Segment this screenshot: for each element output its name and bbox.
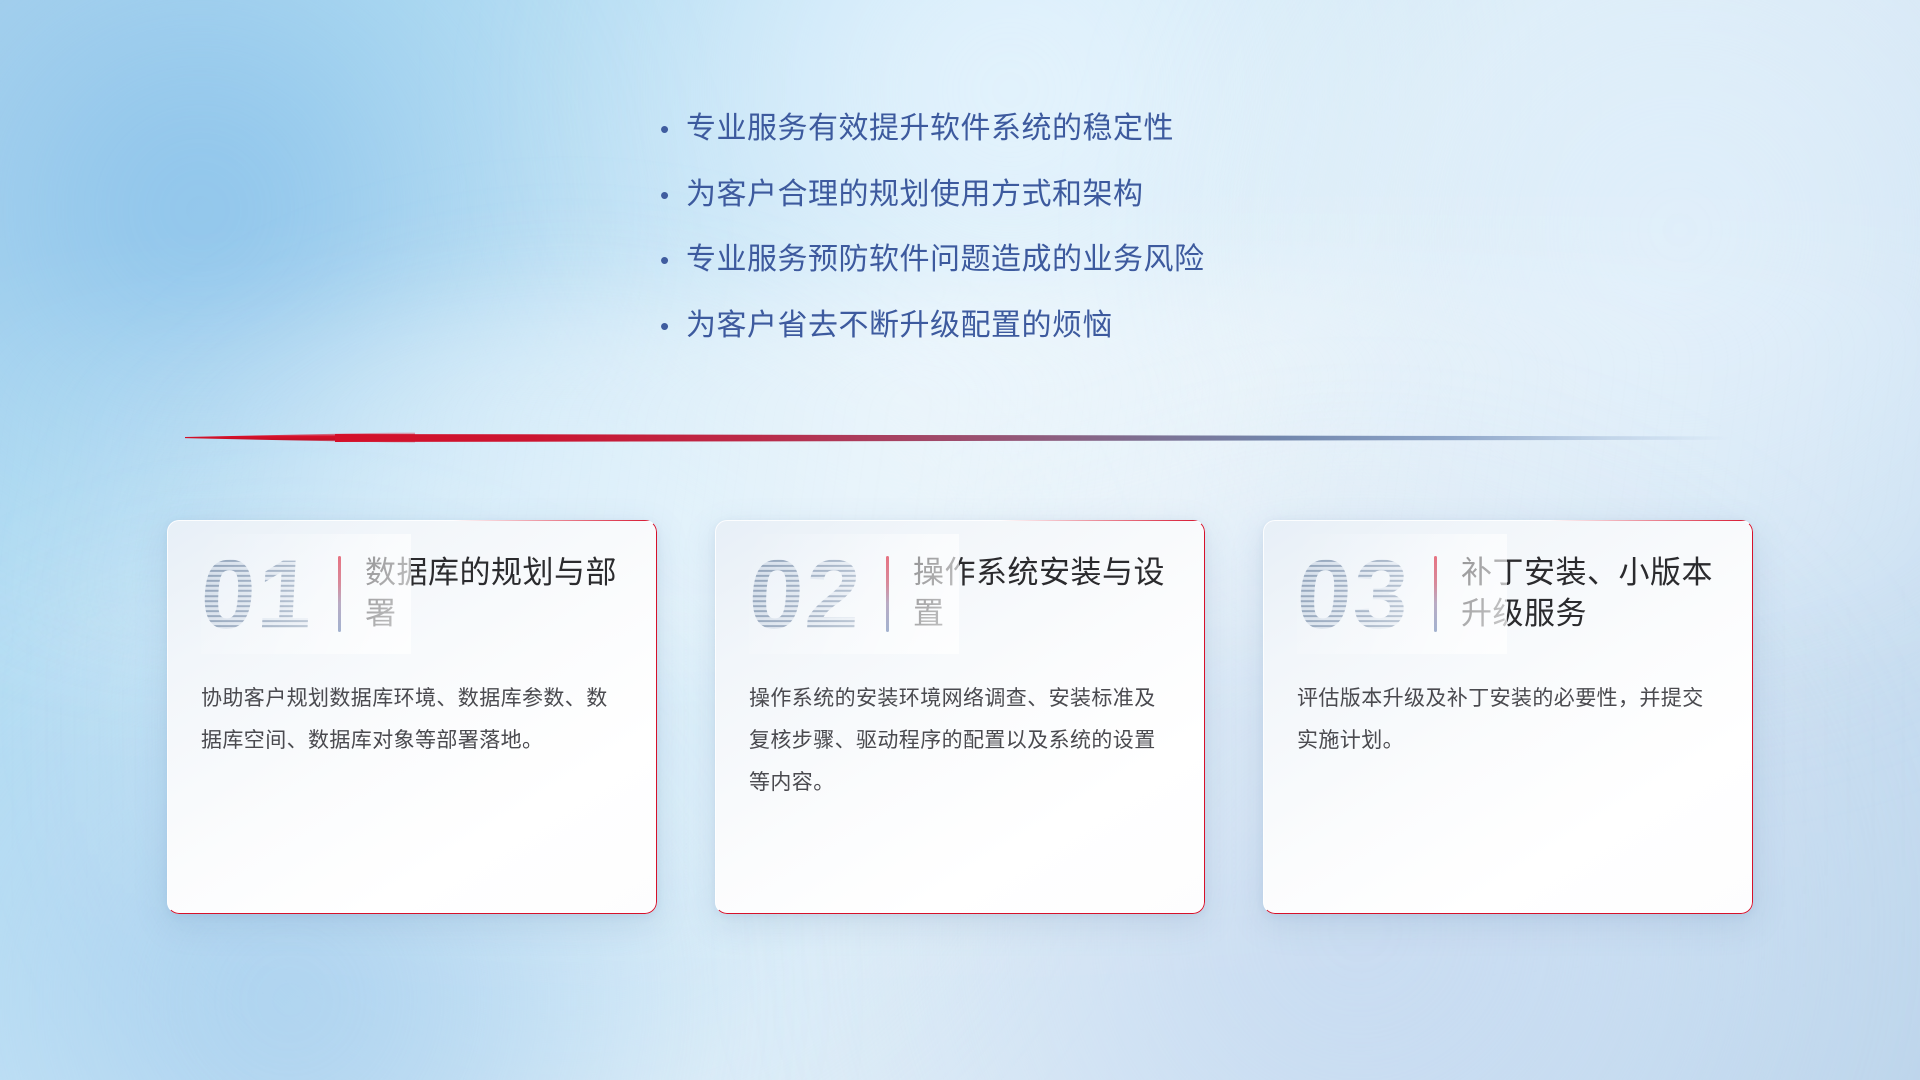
- bullet-dot-icon: •: [660, 247, 686, 273]
- card-number: 01: [198, 545, 322, 643]
- list-item: • 为客户合理的规划使用方式和架构: [660, 176, 1440, 214]
- card-title: 补丁安装、小版本升级服务: [1461, 553, 1727, 635]
- bullet-dot-icon: •: [660, 182, 686, 208]
- bullet-dot-icon: •: [660, 313, 686, 339]
- bullet-dot-icon: •: [660, 116, 686, 142]
- list-item: • 专业服务有效提升软件系统的稳定性: [660, 110, 1440, 148]
- card-body-text: 操作系统的安装环境网络调查、安装标准及复核步骤、驱动程序的配置以及系统的设置等内…: [715, 668, 1205, 804]
- section-divider: [185, 428, 1730, 446]
- card-title: 操作系统安装与设置: [913, 553, 1179, 635]
- card-title-divider: [1434, 556, 1437, 632]
- card-title: 数据库的规划与部署: [365, 553, 631, 635]
- service-card-01[interactable]: 01 数据库的规划与部署 协助客户规划数据库环境、数据库参数、数据库空间、数据库…: [167, 520, 657, 914]
- card-header: 02 操作系统安装与设置: [715, 520, 1205, 668]
- bullet-text: 专业服务有效提升软件系统的稳定性: [686, 110, 1174, 148]
- bullet-text: 专业服务预防软件问题造成的业务风险: [686, 241, 1205, 279]
- card-body-text: 协助客户规划数据库环境、数据库参数、数据库空间、数据库对象等部署落地。: [167, 668, 657, 762]
- service-card-02[interactable]: 02 操作系统安装与设置 操作系统的安装环境网络调查、安装标准及复核步骤、驱动程…: [715, 520, 1205, 914]
- card-body-text: 评估版本升级及补丁安装的必要性，并提交实施计划。: [1263, 668, 1753, 762]
- bullet-text: 为客户合理的规划使用方式和架构: [686, 176, 1144, 214]
- card-number: 03: [1294, 545, 1418, 643]
- card-title-divider: [886, 556, 889, 632]
- list-item: • 为客户省去不断升级配置的烦恼: [660, 307, 1440, 345]
- service-card-03[interactable]: 03 补丁安装、小版本升级服务 评估版本升级及补丁安装的必要性，并提交实施计划。: [1263, 520, 1753, 914]
- list-item: • 专业服务预防软件问题造成的业务风险: [660, 241, 1440, 279]
- card-number: 02: [746, 545, 870, 643]
- service-card-group: 01 数据库的规划与部署 协助客户规划数据库环境、数据库参数、数据库空间、数据库…: [0, 520, 1920, 940]
- card-header: 01 数据库的规划与部署: [167, 520, 657, 668]
- bullet-text: 为客户省去不断升级配置的烦恼: [686, 307, 1113, 345]
- card-title-divider: [338, 556, 341, 632]
- card-header: 03 补丁安装、小版本升级服务: [1263, 520, 1753, 668]
- divider-gradient-line: [335, 434, 1730, 442]
- benefits-bullet-list: • 专业服务有效提升软件系统的稳定性 • 为客户合理的规划使用方式和架构 • 专…: [660, 110, 1440, 372]
